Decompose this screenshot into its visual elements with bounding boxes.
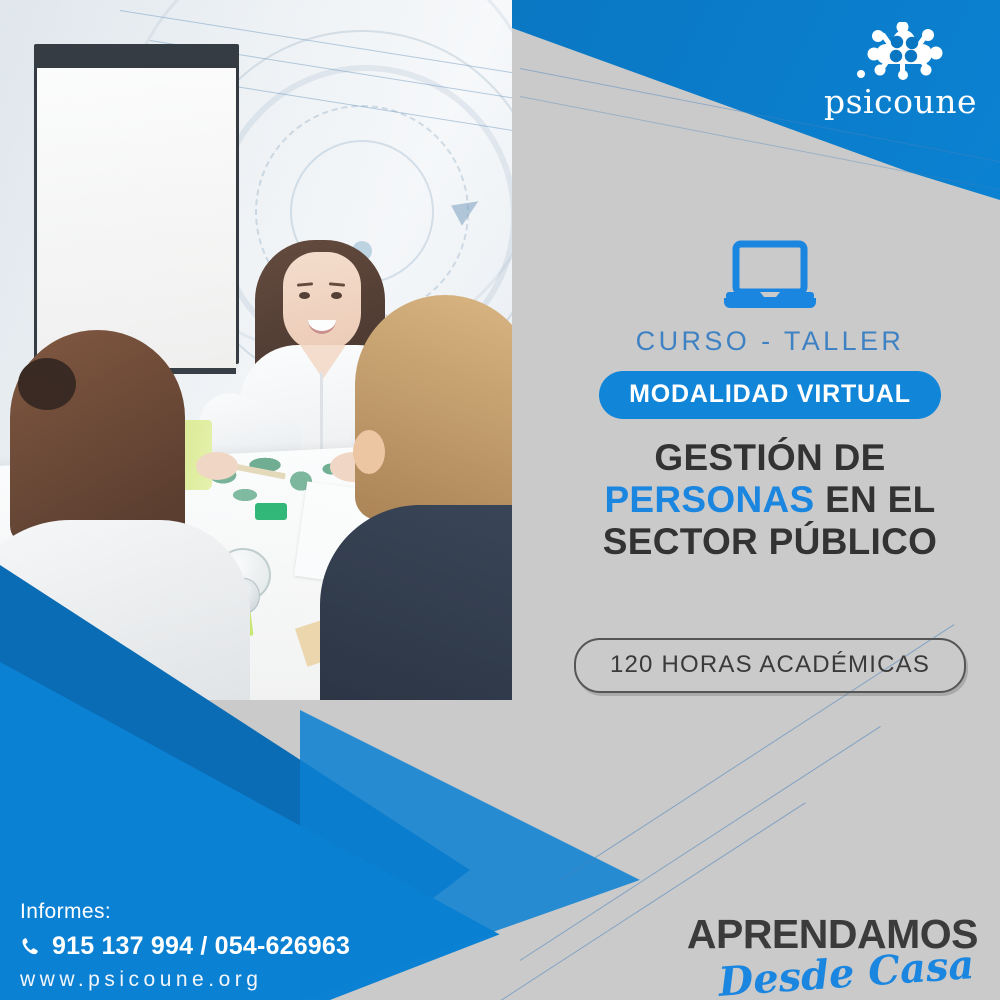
contact-label: Informes: [20,900,440,924]
modality-badge: MODALIDAD VIRTUAL [599,371,941,419]
course-title-line3: SECTOR PÚBLICO [560,521,980,563]
course-title: GESTIÓN DE PERSONAS EN EL SECTOR PÚBLICO [560,437,980,564]
contact-block: Informes: 915 137 994 / 054-626963 www.p… [20,900,440,992]
phone-numbers: 915 137 994 / 054-626963 [52,932,350,961]
brand-logo[interactable]: psicoune [824,22,974,118]
molecule-network-icon [856,22,952,80]
promo-content: CURSO - TALLER MODALIDAD VIRTUAL GESTIÓN… [560,240,980,693]
photo-overlay [0,0,512,700]
course-title-line2: PERSONAS EN EL [560,479,980,521]
course-title-line1: GESTIÓN DE [560,437,980,479]
laptop-icon [722,240,818,312]
website-link[interactable]: www.psicoune.org [20,968,440,992]
phone-row[interactable]: 915 137 994 / 054-626963 [20,932,440,961]
academic-hours-badge: 120 HORAS ACADÉMICAS [574,638,966,693]
slogan-block: APRENDAMOS Desde Casa [687,915,978,984]
promo-poster: psicoune CURSO - TALLER MODALIDAD VIRTUA… [0,0,1000,1000]
course-title-highlight: PERSONAS [604,479,814,520]
meeting-room-photo [0,0,512,700]
course-kicker: CURSO - TALLER [560,326,980,357]
phone-icon [20,936,42,958]
brand-name: psicoune [824,85,974,118]
course-title-line2-rest: EN EL [815,479,936,520]
